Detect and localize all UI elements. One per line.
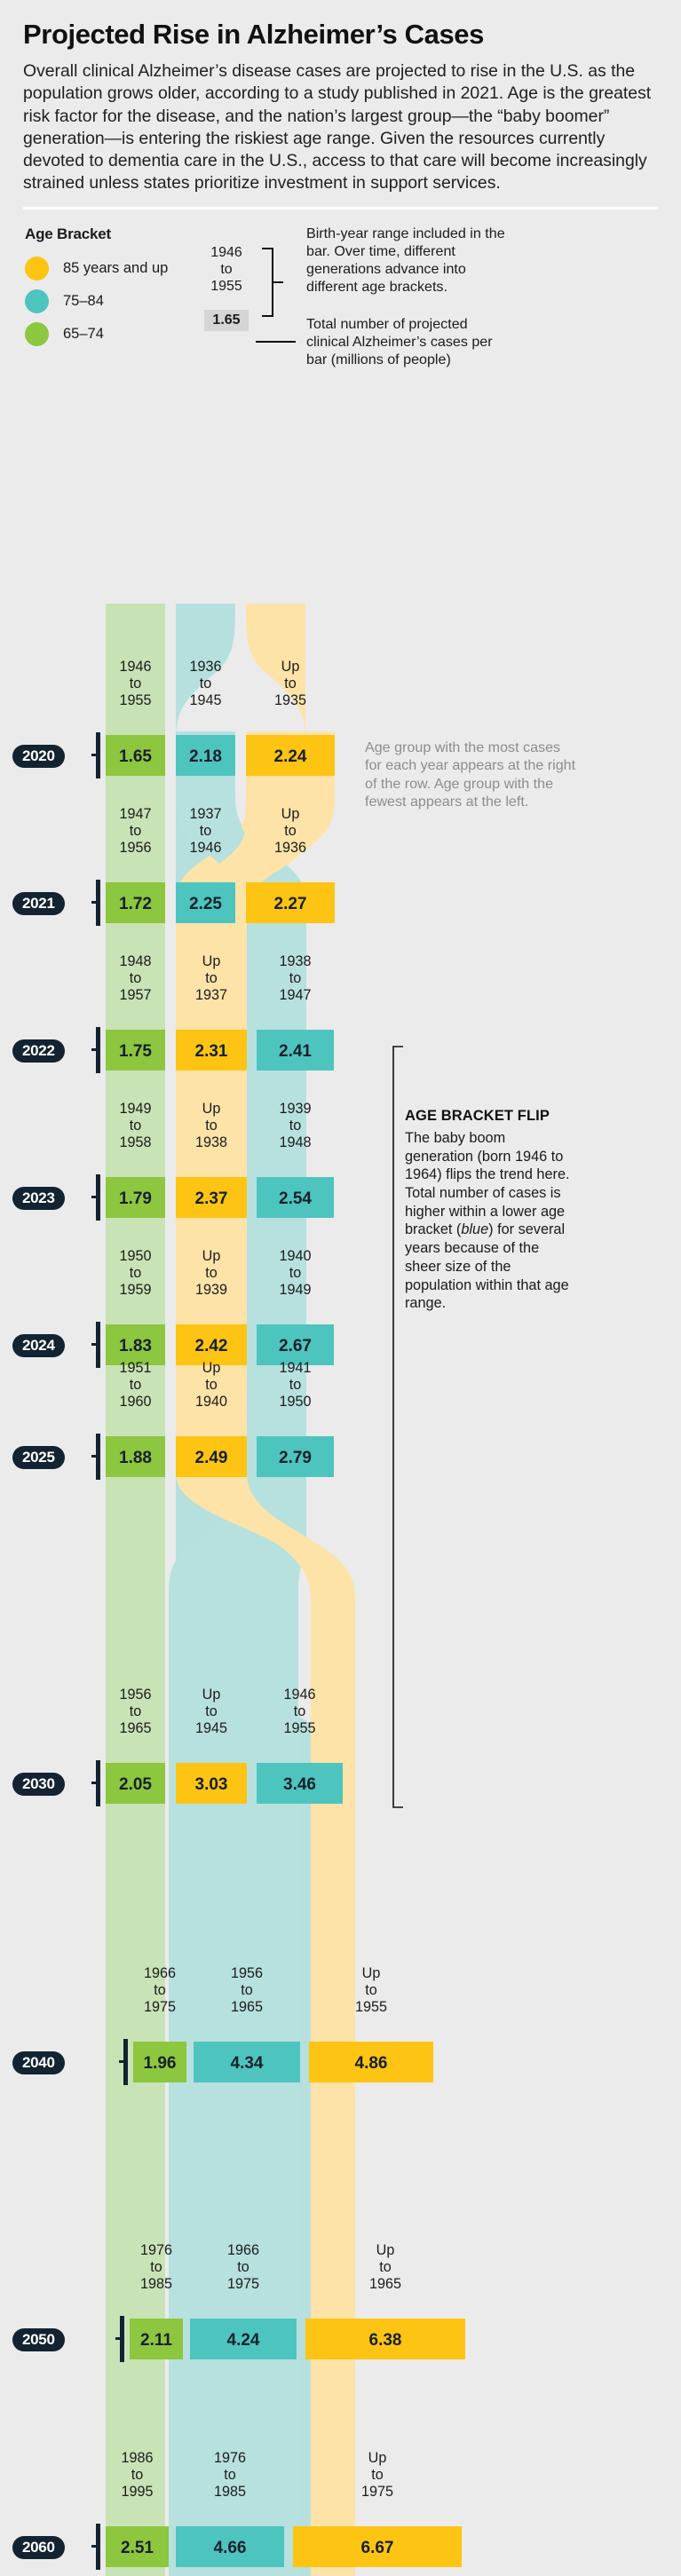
bar-value-2030-85-years-and-up: 3.03 [176, 1776, 247, 1793]
bar-birth-years-2024-85-years-and-up: Upto1939 [176, 1248, 247, 1299]
bar-value-2025-85-years-and-up: 2.49 [176, 1450, 247, 1466]
bar-birth-years-2040-85-years-and-up: Upto1955 [309, 1965, 433, 2016]
birth-year-line: to [106, 1703, 165, 1720]
bar-birth-years-2023-65-74: 1949to1958 [106, 1101, 165, 1151]
birth-year-line: to [106, 2467, 169, 2484]
birth-year-line: to [257, 1265, 334, 1282]
bar-value-2050-75-84: 4.24 [190, 2332, 297, 2349]
birth-year-line: to [257, 1118, 334, 1134]
legend-item-85-up: 85 years and up [23, 252, 214, 285]
bar-value-2024-75-84: 2.67 [257, 1338, 334, 1355]
birth-year-line: Up [246, 659, 335, 676]
flip-callout-bracket-icon [392, 1046, 405, 1809]
bar-value-2060-65-74: 2.51 [106, 2540, 169, 2556]
bar-birth-years-2020-65-74: 1946to1955 [106, 659, 165, 709]
birth-year-line: to [133, 1982, 186, 1999]
year-connector-2020 [91, 754, 98, 756]
bar-birth-years-2021-75-84: 1937to1946 [176, 806, 235, 857]
bar-value-2021-85-years-and-up: 2.27 [246, 896, 335, 913]
flip-body-emphasis: blue [461, 1221, 488, 1237]
annotation-side-note: Age group with the most cases for each y… [365, 739, 578, 810]
birth-year-line: 1975 [190, 2276, 297, 2293]
bar-birth-years-2024-75-84: 1940to1949 [257, 1248, 334, 1299]
year-label-2020: 2020 [12, 745, 65, 768]
bar-value-2023-85-years-and-up: 2.37 [176, 1190, 247, 1207]
bar-value-2060-75-84: 4.66 [176, 2540, 284, 2556]
bar-birth-years-2022-85-years-and-up: Upto1937 [176, 953, 247, 1004]
birth-year-line: Up [176, 1360, 247, 1377]
year-connector-2030 [91, 1782, 98, 1784]
birth-year-line: 1947 [257, 987, 334, 1004]
legend-note-birth-range: Birth-year range included in the bar. Ov… [306, 225, 511, 296]
birth-year-line: Up [176, 953, 247, 970]
birth-year-line: to [293, 2467, 462, 2484]
birth-year-line: 1940 [176, 1394, 247, 1410]
annotation-flip-title: AGE BRACKET FLIP [405, 1108, 550, 1125]
birth-year-line: 1965 [106, 1720, 165, 1737]
birth-year-line: 1960 [106, 1394, 165, 1410]
birth-year-line: 1945 [176, 692, 235, 709]
legend-title: Age Bracket [25, 225, 214, 243]
bar-value-2022-85-years-and-up: 2.31 [176, 1043, 247, 1060]
birth-year-line: to [106, 1118, 165, 1134]
bar-birth-years-2050-85-years-and-up: Upto1965 [305, 2242, 465, 2293]
year-label-2040: 2040 [12, 2051, 65, 2074]
bar-birth-years-2040-65-74: 1966to1975 [133, 1965, 186, 2016]
birth-year-line: 1949 [257, 1282, 334, 1299]
year-connector-2050 [115, 2337, 122, 2340]
legend-item-65-74: 65–74 [23, 318, 214, 351]
birth-year-line: 1939 [257, 1101, 334, 1118]
year-label-2050: 2050 [12, 2328, 65, 2351]
bar-birth-years-2025-65-74: 1951to1960 [106, 1360, 165, 1410]
birth-year-line: 1949 [106, 1101, 165, 1118]
birth-year-line: to [106, 970, 165, 987]
birth-year-line: to [176, 970, 247, 987]
bar-birth-years-2030-75-84: 1946to1955 [257, 1687, 343, 1737]
bar-value-2023-75-84: 2.54 [257, 1190, 334, 1207]
year-connector-2040 [119, 2060, 125, 2063]
bar-birth-years-2022-75-84: 1938to1947 [257, 953, 334, 1004]
birth-year-line: 1956 [194, 1965, 300, 1982]
birth-year-line: 1935 [246, 692, 335, 709]
birth-year-line: to [176, 2467, 284, 2484]
bar-birth-years-2060-75-84: 1976to1985 [176, 2450, 284, 2501]
birth-year-line: 1938 [257, 953, 334, 970]
bar-value-2050-85-years-and-up: 6.38 [305, 2332, 465, 2349]
year-connector-2024 [91, 1343, 98, 1346]
bar-value-2021-75-84: 2.25 [176, 896, 235, 913]
bar-birth-years-2023-75-84: 1939to1948 [257, 1101, 334, 1151]
birth-year-line: 1966 [190, 2242, 297, 2259]
birth-year-line: to [194, 1982, 300, 1999]
birth-year-line: to [305, 2259, 465, 2276]
birth-year-line: 1948 [257, 1134, 334, 1151]
birth-year-line: 1946 [106, 659, 165, 676]
bar-value-2060-85-years-and-up: 6.67 [293, 2540, 462, 2556]
birth-year-line: 1965 [194, 1999, 300, 2016]
birth-year-line: to [309, 1982, 433, 1999]
bar-value-2022-75-84: 2.41 [257, 1043, 334, 1060]
birth-year-line: 1950 [106, 1248, 165, 1265]
year-label-2024: 2024 [12, 1334, 65, 1357]
birth-year-line: to [176, 1703, 247, 1720]
year-label-2022: 2022 [12, 1039, 65, 1063]
birth-year-line: 1975 [133, 1999, 186, 2016]
bar-birth-years-2030-65-74: 1956to1965 [106, 1687, 165, 1737]
bar-birth-years-2021-65-74: 1947to1956 [106, 806, 165, 857]
year-label-2030: 2030 [12, 1773, 65, 1796]
bar-value-2050-65-74: 2.11 [130, 2332, 183, 2349]
bar-birth-years-2020-75-84: 1936to1945 [176, 659, 235, 709]
bar-value-2040-85-years-and-up: 4.86 [309, 2055, 433, 2072]
birth-year-line: 1976 [176, 2450, 284, 2467]
birth-year-line: to [130, 2259, 183, 2276]
birth-year-line: to [257, 1377, 334, 1394]
birth-year-line: Up [176, 1687, 247, 1703]
year-connector-2022 [91, 1048, 98, 1051]
bar-value-2025-75-84: 2.79 [257, 1450, 334, 1466]
legend-item-label: 75–84 [63, 293, 104, 310]
birth-year-line: 1956 [106, 840, 165, 857]
deck-paragraph: Overall clinical Alzheimer’s disease cas… [23, 60, 658, 194]
bar-birth-years-2050-75-84: 1966to1975 [190, 2242, 297, 2293]
birth-year-line: to [176, 1377, 247, 1394]
bar-value-2030-65-74: 2.05 [106, 1776, 165, 1793]
bar-value-2024-65-74: 1.83 [106, 1338, 165, 1355]
birth-year-line: 1958 [106, 1134, 165, 1151]
birth-year-line: 1936 [176, 659, 235, 676]
birth-year-line: to [176, 1265, 247, 1282]
birth-year-line: 1955 [257, 1720, 343, 1737]
legend-leader-line [256, 341, 296, 343]
sample-total-chip: 1.65 [204, 310, 248, 331]
birth-year-line: to [176, 823, 235, 840]
bar-birth-years-2060-65-74: 1986to1995 [106, 2450, 169, 2501]
birth-year-line: to [106, 1265, 165, 1282]
legend-notes: Birth-year range included in the bar. Ov… [306, 225, 511, 369]
year-label-2060: 2060 [12, 2536, 65, 2559]
bar-birth-years-2030-85-years-and-up: Upto1945 [176, 1687, 247, 1737]
birth-year-line: 1950 [257, 1394, 334, 1410]
sample-birth-year-end: 1955 [200, 279, 253, 296]
birth-year-line: to [246, 823, 335, 840]
year-connector-2025 [91, 1455, 98, 1458]
bar-birth-years-2020-85-years-and-up: Upto1935 [246, 659, 335, 709]
birth-year-line: 1936 [246, 840, 335, 857]
birth-year-line: 1940 [257, 1248, 334, 1265]
birth-year-line: to [257, 970, 334, 987]
birth-year-line: to [106, 676, 165, 692]
bar-birth-years-2040-75-84: 1956to1965 [194, 1965, 300, 2016]
sample-birth-year-start: 1946 [200, 245, 253, 262]
birth-year-line: 1956 [106, 1687, 165, 1703]
flow-chart: Age group with the most cases for each y… [0, 533, 681, 2576]
bar-value-2022-65-74: 1.75 [106, 1043, 165, 1060]
birth-year-line: 1955 [106, 692, 165, 709]
birth-year-line: Up [293, 2450, 462, 2467]
bar-value-2020-85-years-and-up: 2.24 [246, 748, 335, 765]
swatch-yellow-icon [25, 257, 49, 281]
legend-item-label: 85 years and up [63, 260, 168, 277]
birth-year-line: 1948 [106, 953, 165, 970]
bar-value-2021-65-74: 1.72 [106, 896, 165, 913]
legend: Age Bracket 85 years and up 75–84 65–74 … [0, 225, 681, 376]
bar-value-2020-75-84: 2.18 [176, 748, 235, 765]
birth-year-line: 1946 [257, 1687, 343, 1703]
bar-birth-years-2025-85-years-and-up: Upto1940 [176, 1360, 247, 1410]
birth-year-line: 1946 [176, 840, 235, 857]
birth-year-line: 1937 [176, 987, 247, 1004]
swatch-teal-icon [25, 289, 49, 313]
birth-year-line: 1955 [309, 1999, 433, 2016]
bar-value-2023-65-74: 1.79 [106, 1190, 165, 1207]
birth-year-line: to [257, 1703, 343, 1720]
birth-year-line: 1947 [106, 806, 165, 823]
birth-year-line: Up [246, 806, 335, 823]
birth-year-line: 1986 [106, 2450, 169, 2467]
birth-year-line: 1951 [106, 1360, 165, 1377]
birth-year-line: 1941 [257, 1360, 334, 1377]
year-label-2023: 2023 [12, 1187, 65, 1210]
legend-sample-bar: 1946 to 1955 1.65 [200, 245, 253, 331]
sample-birth-year-to: to [200, 262, 253, 279]
birth-year-line: 1939 [176, 1282, 247, 1299]
birth-year-line: 1965 [305, 2276, 465, 2293]
legend-note-total: Total number of projected clinical Alzhe… [306, 316, 511, 369]
legend-item-label: 65–74 [63, 326, 104, 343]
legend-brace-icon [260, 247, 287, 320]
year-label-2021: 2021 [12, 892, 65, 915]
birth-year-line: 1938 [176, 1134, 247, 1151]
birth-year-line: 1975 [293, 2484, 462, 2501]
birth-year-line: 1985 [176, 2484, 284, 2501]
birth-year-line: Up [176, 1248, 247, 1265]
year-connector-2023 [91, 1196, 98, 1198]
birth-year-line: Up [309, 1965, 433, 1982]
birth-year-line: to [176, 1118, 247, 1134]
bar-birth-years-2060-85-years-and-up: Upto1975 [293, 2450, 462, 2501]
bar-birth-years-2022-65-74: 1948to1957 [106, 953, 165, 1004]
birth-year-line: to [106, 1377, 165, 1394]
bar-value-2020-65-74: 1.65 [106, 748, 165, 765]
bar-birth-years-2025-75-84: 1941to1950 [257, 1360, 334, 1410]
year-connector-2060 [91, 2545, 98, 2548]
annotation-flip-body: The baby boom generation (born 1946 to 1… [405, 1129, 574, 1313]
birth-year-line: 1957 [106, 987, 165, 1004]
birth-year-line: to [190, 2259, 297, 2276]
birth-year-line: 1945 [176, 1720, 247, 1737]
bar-birth-years-2021-85-years-and-up: Upto1936 [246, 806, 335, 857]
birth-year-line: 1976 [130, 2242, 183, 2259]
legend-color-key: Age Bracket 85 years and up 75–84 65–74 [23, 225, 214, 351]
birth-year-line: 1995 [106, 2484, 169, 2501]
birth-year-line: Up [305, 2242, 465, 2259]
swatch-green-icon [25, 322, 49, 346]
birth-year-line: 1937 [176, 806, 235, 823]
birth-year-line: to [246, 676, 335, 692]
header: Projected Rise in Alzheimer’s Cases Over… [0, 0, 681, 194]
bar-value-2030-75-84: 3.46 [257, 1776, 343, 1793]
legend-item-75-84: 75–84 [23, 285, 214, 318]
bar-value-2025-65-74: 1.88 [106, 1450, 165, 1466]
infographic-page: Projected Rise in Alzheimer’s Cases Over… [0, 0, 681, 2576]
birth-year-line: 1966 [133, 1965, 186, 1982]
birth-year-line: Up [176, 1101, 247, 1118]
year-label-2025: 2025 [12, 1446, 65, 1469]
bar-birth-years-2023-85-years-and-up: Upto1938 [176, 1101, 247, 1151]
year-connector-2021 [91, 901, 98, 904]
page-title: Projected Rise in Alzheimer’s Cases [23, 20, 658, 49]
bar-value-2040-75-84: 4.34 [194, 2055, 300, 2072]
birth-year-line: 1985 [130, 2276, 183, 2293]
bar-birth-years-2050-65-74: 1976to1985 [130, 2242, 183, 2293]
bar-birth-years-2024-65-74: 1950to1959 [106, 1248, 165, 1299]
bar-value-2040-65-74: 1.96 [133, 2055, 186, 2072]
birth-year-line: to [176, 676, 235, 692]
header-divider [23, 207, 658, 209]
birth-year-line: 1959 [106, 1282, 165, 1299]
bar-value-2024-85-years-and-up: 2.42 [176, 1338, 247, 1355]
birth-year-line: to [106, 823, 165, 840]
